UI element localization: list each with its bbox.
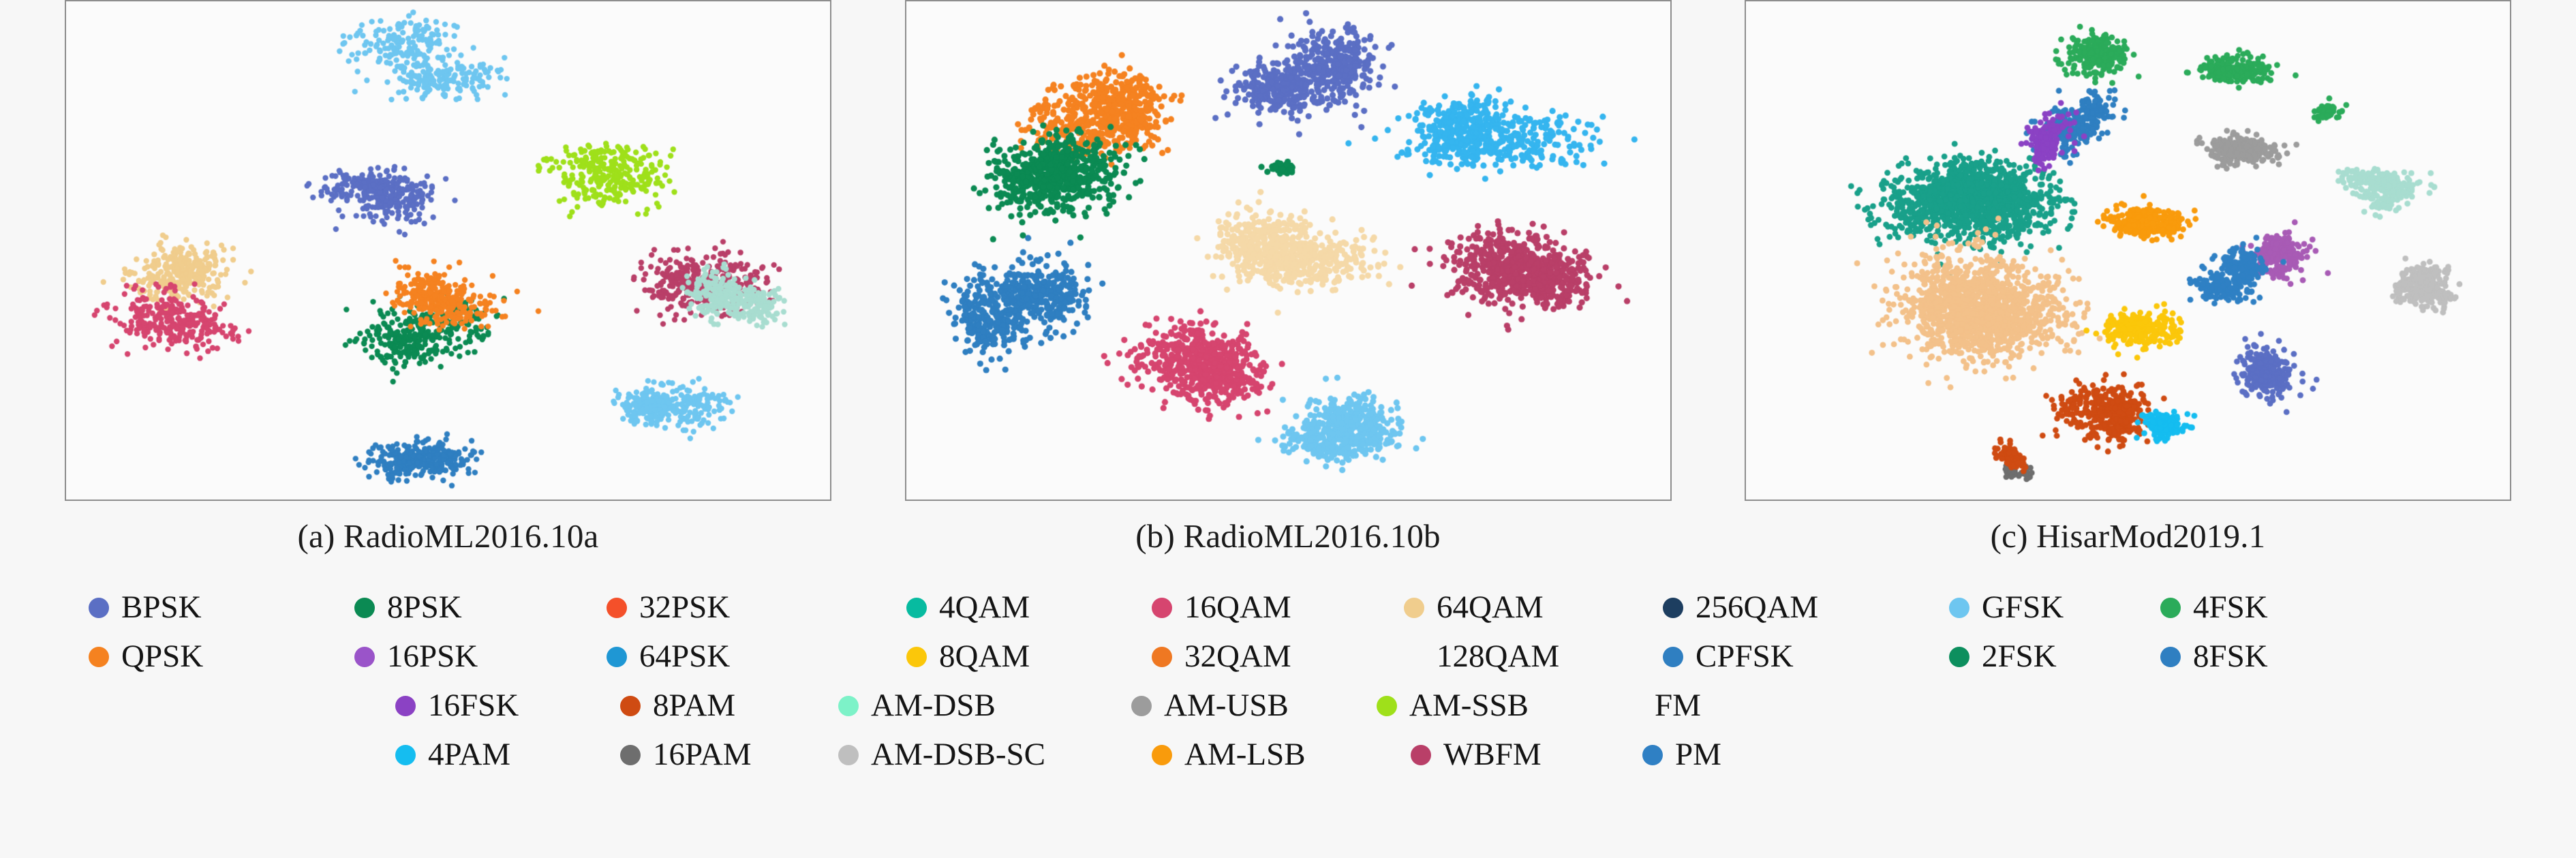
legend-item-16qam[interactable]: 16QAM (1152, 592, 1291, 624)
legend-label: 256QAM (1696, 592, 1818, 624)
legend-swatch-16pam-icon (620, 745, 641, 765)
legend-label: CPFSK (1696, 641, 1794, 673)
plot-panels (0, 0, 2576, 518)
legend-swatch-4fsk-icon (2160, 598, 2181, 618)
legend-item-64psk[interactable]: 64PSK (607, 641, 730, 673)
caption-panel-a: (a) RadioML2016.10a (65, 517, 831, 578)
legend-swatch-8fsk-icon (2160, 647, 2181, 667)
legend-label: 4FSK (2193, 592, 2268, 624)
legend-swatch-256qam-icon (1663, 598, 1683, 618)
legend-label: AM-DSB (871, 690, 996, 722)
legend-item-16fsk[interactable]: 16FSK (395, 690, 519, 722)
legend-label: GFSK (1982, 592, 2064, 624)
legend-row-2: QPSK16PSK64PSK8QAM32QAM128QAMCPFSK2FSK8F… (0, 637, 2576, 686)
legend-label: FM (1655, 690, 1701, 722)
legend-item-am-usb[interactable]: AM-USB (1131, 690, 1289, 722)
legend-item-32psk[interactable]: 32PSK (607, 592, 730, 624)
legend-swatch-4pam-icon (395, 745, 416, 765)
modulation-legend: BPSK8PSK32PSK4QAM16QAM64QAM256QAMGFSK4FS… (0, 587, 2576, 784)
legend-item-8qam[interactable]: 8QAM (906, 641, 1030, 673)
legend-item-2fsk[interactable]: 2FSK (1949, 641, 2057, 673)
legend-label: 32PSK (639, 592, 730, 624)
legend-item-16pam[interactable]: 16PAM (620, 739, 752, 771)
legend-item-128qam[interactable]: 128QAM (1404, 641, 1559, 673)
scatter-canvas-a (66, 1, 830, 500)
legend-swatch-pm-icon (1642, 745, 1663, 765)
panel-b (905, 0, 1672, 518)
legend-row-1: BPSK8PSK32PSK4QAM16QAM64QAM256QAMGFSK4FS… (0, 587, 2576, 637)
legend-swatch-128qam-icon (1404, 647, 1424, 667)
scatter-canvas-c (1746, 1, 2510, 500)
legend-swatch-8pam-icon (620, 696, 641, 716)
legend-label: 128QAM (1437, 641, 1559, 673)
legend-label: 8FSK (2193, 641, 2268, 673)
legend-swatch-2fsk-icon (1949, 647, 1969, 667)
legend-label: 64PSK (639, 641, 730, 673)
legend-item-bpsk[interactable]: BPSK (89, 592, 202, 624)
legend-label: WBFM (1443, 739, 1542, 771)
legend-swatch-am-dsb-icon (838, 696, 859, 716)
legend-row-3: 16FSK8PAMAM-DSBAM-USBAM-SSBFM (0, 686, 2576, 735)
legend-label: 16QAM (1184, 592, 1291, 624)
panel-c (1745, 0, 2511, 518)
legend-label: 2FSK (1982, 641, 2057, 673)
legend-item-8psk[interactable]: 8PSK (354, 592, 462, 624)
plot-frame-b (905, 0, 1672, 501)
legend-swatch-cpfsk-icon (1663, 647, 1683, 667)
legend-item-wbfm[interactable]: WBFM (1411, 739, 1542, 771)
legend-swatch-4qam-icon (906, 598, 927, 618)
legend-item-8fsk[interactable]: 8FSK (2160, 641, 2268, 673)
legend-item-16psk[interactable]: 16PSK (354, 641, 478, 673)
panel-captions: (a) RadioML2016.10a (b) RadioML2016.10b … (0, 517, 2576, 578)
legend-label: AM-LSB (1184, 739, 1306, 771)
plot-frame-c (1745, 0, 2511, 501)
legend-label: 16PSK (387, 641, 478, 673)
legend-swatch-gfsk-icon (1949, 598, 1969, 618)
legend-item-am-dsb-sc[interactable]: AM-DSB-SC (838, 739, 1045, 771)
panel-a (65, 0, 831, 518)
scatter-canvas-b (906, 1, 1670, 500)
legend-label: 4QAM (939, 592, 1030, 624)
legend-swatch-bpsk-icon (89, 598, 109, 618)
legend-item-256qam[interactable]: 256QAM (1663, 592, 1818, 624)
legend-label: AM-DSB-SC (871, 739, 1045, 771)
legend-item-am-lsb[interactable]: AM-LSB (1152, 739, 1306, 771)
legend-label: AM-SSB (1409, 690, 1529, 722)
legend-swatch-am-lsb-icon (1152, 745, 1172, 765)
legend-item-4qam[interactable]: 4QAM (906, 592, 1030, 624)
legend-item-fm[interactable]: FM (1622, 690, 1701, 722)
legend-swatch-32psk-icon (607, 598, 627, 618)
legend-label: 16FSK (428, 690, 519, 722)
legend-swatch-fm-icon (1622, 696, 1642, 716)
legend-label: 32QAM (1184, 641, 1291, 673)
legend-swatch-16qam-icon (1152, 598, 1172, 618)
legend-label: 16PAM (653, 739, 752, 771)
legend-item-4fsk[interactable]: 4FSK (2160, 592, 2268, 624)
legend-label: AM-USB (1164, 690, 1289, 722)
legend-swatch-16fsk-icon (395, 696, 416, 716)
legend-label: 8PSK (387, 592, 462, 624)
legend-swatch-64qam-icon (1404, 598, 1424, 618)
legend-label: 64QAM (1437, 592, 1544, 624)
legend-label: 8PAM (653, 690, 735, 722)
legend-swatch-64psk-icon (607, 647, 627, 667)
legend-item-32qam[interactable]: 32QAM (1152, 641, 1291, 673)
legend-swatch-qpsk-icon (89, 647, 109, 667)
legend-swatch-32qam-icon (1152, 647, 1172, 667)
legend-item-4pam[interactable]: 4PAM (395, 739, 510, 771)
caption-panel-b: (b) RadioML2016.10b (905, 517, 1672, 578)
legend-item-64qam[interactable]: 64QAM (1404, 592, 1544, 624)
legend-item-qpsk[interactable]: QPSK (89, 641, 203, 673)
legend-item-pm[interactable]: PM (1642, 739, 1721, 771)
legend-label: BPSK (121, 592, 202, 624)
legend-label: 4PAM (428, 739, 510, 771)
legend-row-4: 4PAM16PAMAM-DSB-SCAM-LSBWBFMPM (0, 735, 2576, 784)
legend-swatch-wbfm-icon (1411, 745, 1431, 765)
legend-swatch-am-usb-icon (1131, 696, 1152, 716)
legend-item-am-dsb[interactable]: AM-DSB (838, 690, 996, 722)
tsne-figure: (a) RadioML2016.10a (b) RadioML2016.10b … (0, 0, 2576, 858)
legend-item-cpfsk[interactable]: CPFSK (1663, 641, 1794, 673)
legend-label: PM (1675, 739, 1721, 771)
legend-item-am-ssb[interactable]: AM-SSB (1377, 690, 1529, 722)
plot-frame-a (65, 0, 831, 501)
legend-swatch-am-dsb-sc-icon (838, 745, 859, 765)
legend-item-gfsk[interactable]: GFSK (1949, 592, 2064, 624)
legend-swatch-am-ssb-icon (1377, 696, 1397, 716)
legend-swatch-16psk-icon (354, 647, 375, 667)
legend-swatch-8psk-icon (354, 598, 375, 618)
legend-swatch-8qam-icon (906, 647, 927, 667)
legend-label: 8QAM (939, 641, 1030, 673)
caption-panel-c: (c) HisarMod2019.1 (1745, 517, 2511, 578)
legend-label: QPSK (121, 641, 203, 673)
legend-item-8pam[interactable]: 8PAM (620, 690, 735, 722)
